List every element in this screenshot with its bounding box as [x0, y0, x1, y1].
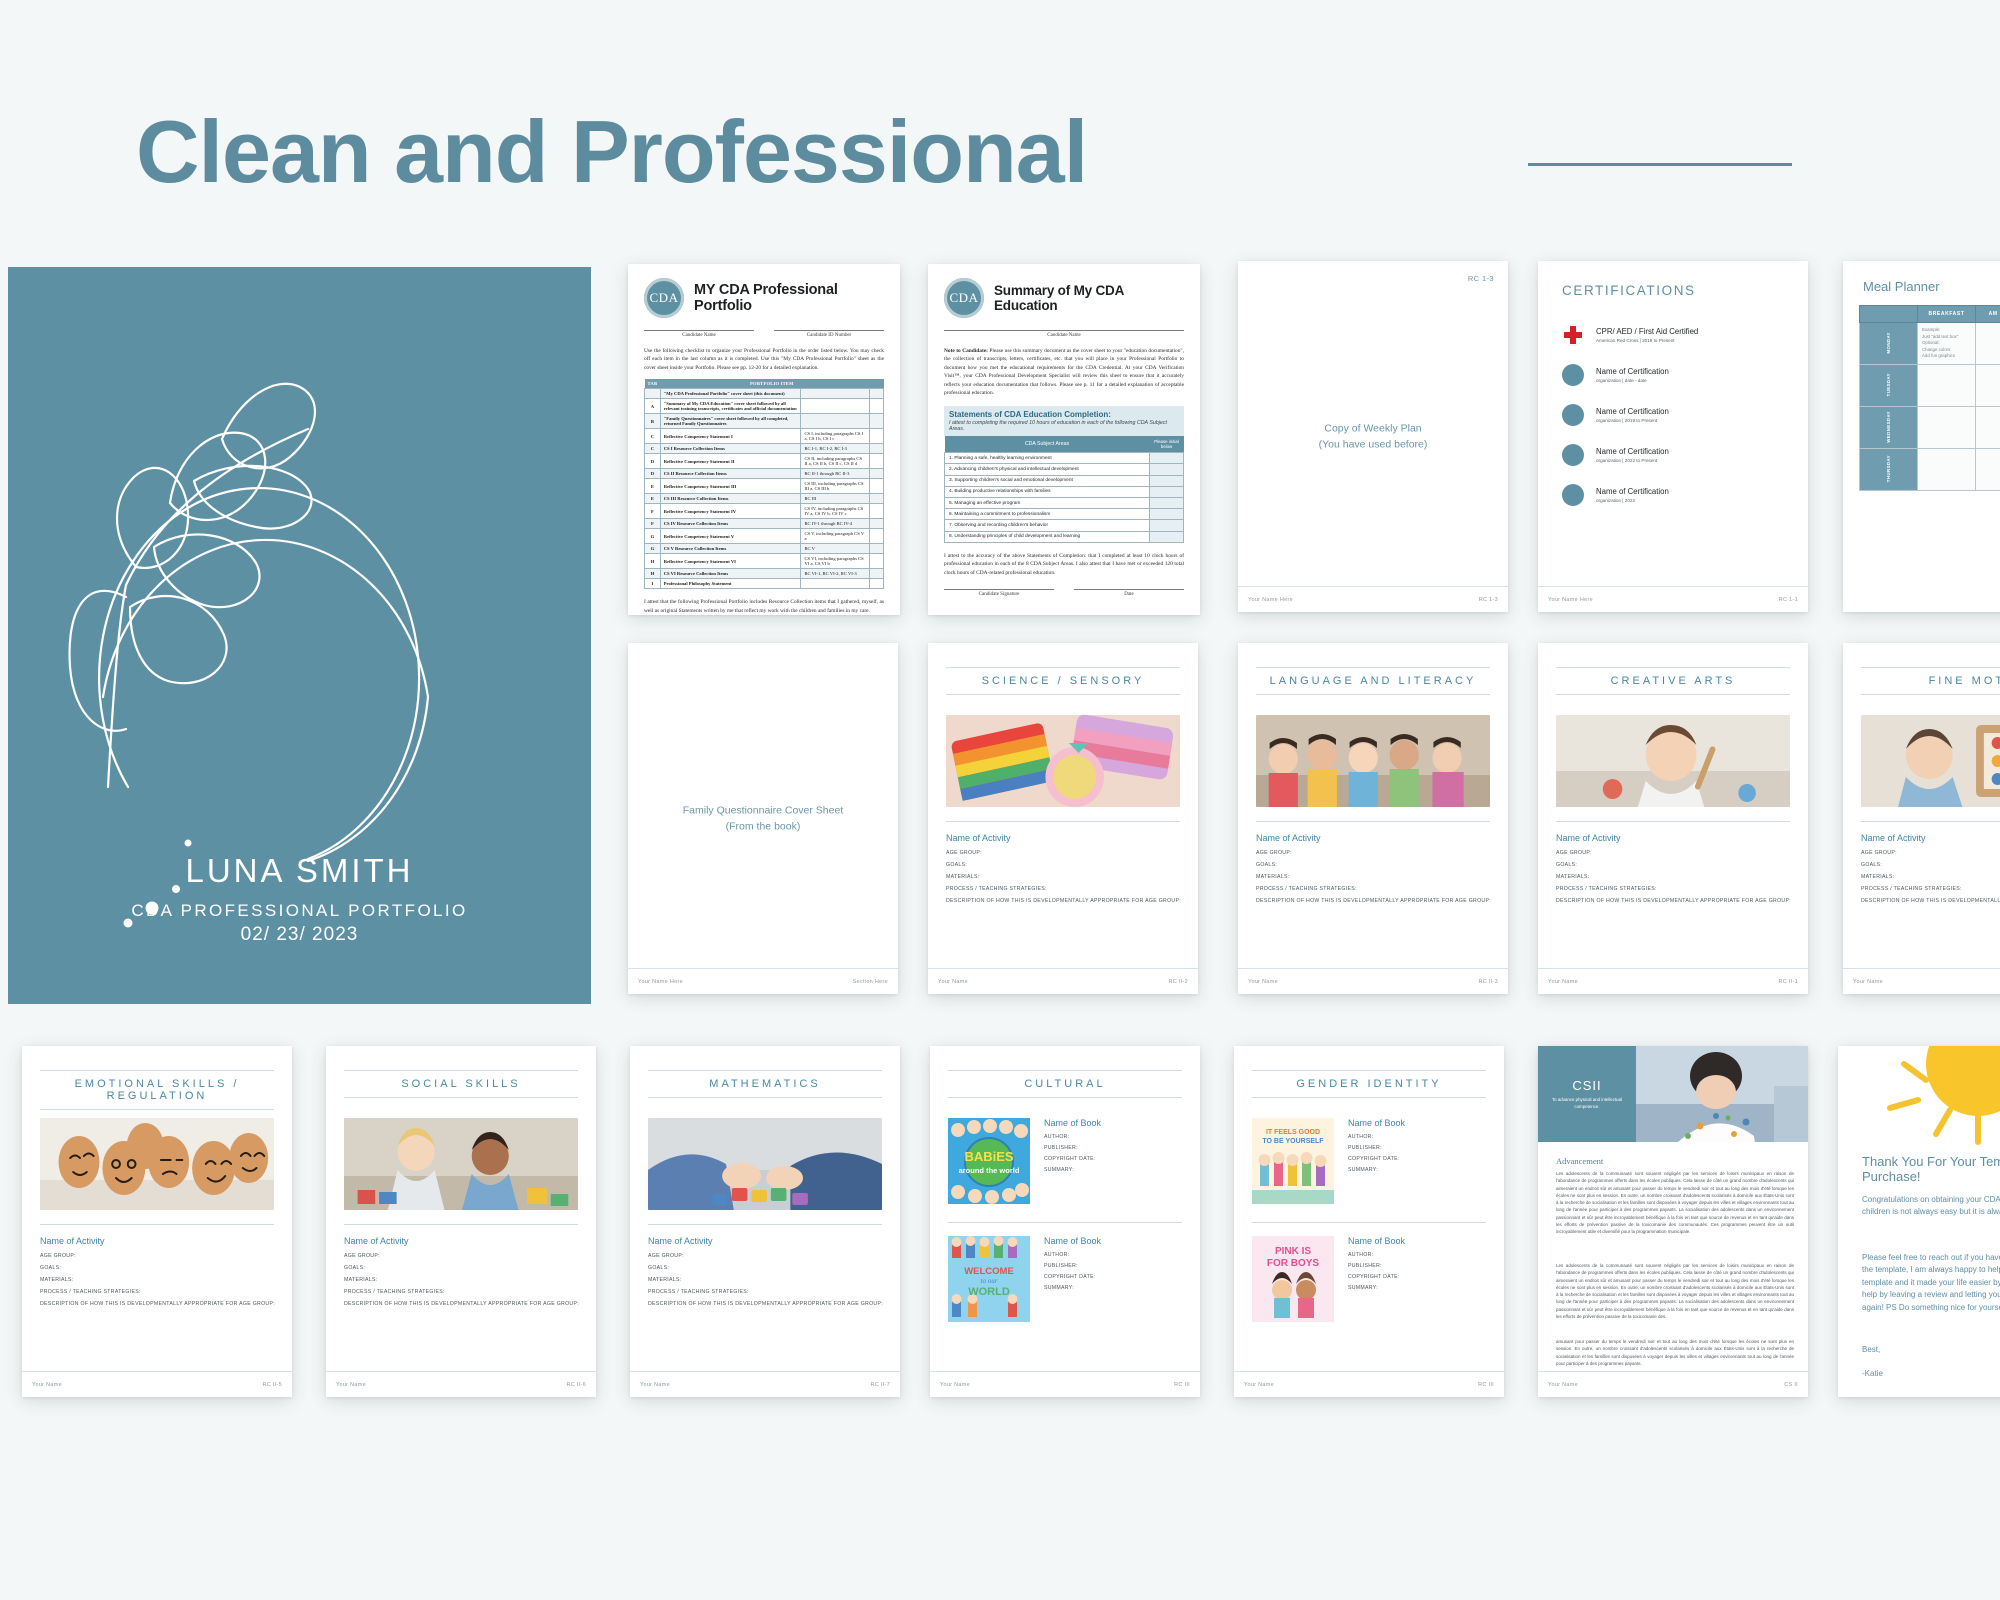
page-footer: Your Name Here RC 1-1	[1538, 586, 1808, 612]
cell-subject: 5. Managing an effective program	[945, 498, 1150, 509]
doc-title: Summary of My CDA Education	[994, 283, 1184, 313]
svg-text:to our: to our	[981, 1277, 998, 1285]
activity-heading: LANGUAGE AND LITERACY	[1256, 667, 1490, 695]
cell-check[interactable]	[870, 529, 884, 544]
activity-heading: FINE MOTOR	[1861, 667, 2000, 695]
col-please-initial: Please initial below	[1150, 436, 1184, 453]
page-summary-of-my-cda-education[interactable]: CDA Summary of My CDA Education Candidat…	[928, 264, 1200, 615]
footer-right: RC III	[1174, 1382, 1190, 1388]
cell-meal[interactable]	[1918, 407, 1976, 449]
activity-field-label: DESCRIPTION OF HOW THIS IS DEVELOPMENTAL…	[1256, 898, 1494, 904]
cell-tab: D	[645, 469, 661, 479]
book-field-label: COPYRIGHT DATE:	[1044, 1156, 1101, 1162]
activity-field-label: PROCESS / TEACHING STRATEGIES:	[1861, 886, 2000, 892]
footer-left: Your Name	[640, 1382, 670, 1388]
col-item: PORTFOLIO ITEM	[660, 379, 883, 389]
doc-header: CDA Summary of My CDA Education	[944, 278, 1184, 318]
candidate-name-field[interactable]: Candidate Name	[944, 330, 1184, 338]
footer-left: Your Name	[336, 1382, 366, 1388]
cell-check[interactable]	[870, 479, 884, 494]
cell-tab: H	[645, 569, 661, 579]
footer-right: RC II-2	[1168, 979, 1188, 985]
certification-item: Name of Certificationorganization | 2022…	[1562, 435, 1790, 475]
portfolio-checklist-table: TAB PORTFOLIO ITEM "My CDA Professional …	[644, 379, 884, 589]
cell-item: Professional Philosophy Statement	[660, 579, 801, 589]
candidate-fields: Candidate Name	[944, 330, 1184, 338]
pop-it-toys-photo	[946, 715, 1180, 807]
svg-text:around the world: around the world	[959, 1166, 1020, 1175]
cell-meal[interactable]	[1976, 365, 2000, 407]
it-feels-good-to-be-yourself-cover: IT FEELS GOOD TO BE YOURSELF	[1252, 1118, 1334, 1204]
cell-tab: G	[645, 544, 661, 554]
table-row: FReflective Competency Statement IVCS IV…	[645, 504, 884, 519]
cell-initial[interactable]	[1150, 520, 1184, 531]
cell-item: "Family Questionnaires" cover sheet foll…	[660, 414, 801, 429]
activity-field-label: MATERIALS:	[1556, 874, 1794, 880]
doc-body: CDA Summary of My CDA Education Candidat…	[928, 264, 1200, 597]
cell-meal[interactable]	[1976, 449, 2000, 491]
field-line	[944, 330, 1184, 331]
cell-check[interactable]	[870, 399, 884, 414]
activity-field-label: MATERIALS:	[1861, 874, 2000, 880]
sun-icon	[1838, 1046, 2000, 1146]
attestation-text: I attest that the following Professional…	[644, 598, 884, 615]
red-cross-icon	[1562, 324, 1584, 346]
col-breakfast: BREAKFAST	[1918, 306, 1976, 323]
activity-field-label: AGE GROUP:	[648, 1253, 886, 1259]
cell-initial[interactable]	[1150, 531, 1184, 542]
table-row: 3. Supporting children's social and emot…	[945, 475, 1184, 486]
footer-left: Your Name Here	[638, 979, 683, 985]
divider	[946, 821, 1180, 822]
certification-text: Name of Certificationorganization | date…	[1596, 367, 1669, 383]
footer-right: RC II-5	[262, 1382, 282, 1388]
activity-field-label: PROCESS / TEACHING STRATEGIES:	[648, 1289, 886, 1295]
cell-initial[interactable]	[1150, 509, 1184, 520]
books-heading: GENDER IDENTITY	[1252, 1070, 1486, 1098]
field-label: Date	[1074, 592, 1184, 597]
candidate-name-field[interactable]: Candidate Name	[644, 330, 754, 338]
activity-name: Name of Activity	[344, 1236, 582, 1246]
activity-body: Name of ActivityAGE GROUP:GOALS:MATERIAL…	[344, 1236, 582, 1313]
cell-tab	[645, 389, 661, 399]
doc-intro-text: Use the following checklist to organize …	[644, 347, 884, 372]
book-entry: IT FEELS GOOD TO BE YOURSELF Name of Boo…	[1252, 1118, 1486, 1204]
col-day	[1860, 306, 1918, 323]
page-activity-mathematics[interactable]: MATHEMATICS Name of ActivityAGE GROUP:GO…	[630, 1046, 900, 1397]
activity-heading: SCIENCE / SENSORY	[946, 667, 1180, 695]
footer-left: Your Name Here	[1548, 597, 1593, 603]
cell-ref: RC IV-1 through RC IV-4	[801, 519, 870, 529]
col-tab: TAB	[645, 379, 661, 389]
thank-you-author: -Katie	[1862, 1368, 2000, 1380]
children-singing-photo	[1256, 715, 1490, 807]
candidate-signature-field[interactable]: Candidate Signature	[944, 589, 1054, 597]
book-field-label: COPYRIGHT DATE:	[1348, 1156, 1405, 1162]
egg-faces-photo	[40, 1118, 274, 1210]
cell-ref: RC V	[801, 544, 870, 554]
activity-name: Name of Activity	[946, 833, 1184, 843]
activity-field-label: PROCESS / TEACHING STRATEGIES:	[946, 886, 1184, 892]
panel-subtitle: I attest to completing the required 10 h…	[944, 420, 1184, 436]
family-questionnaire-note: Family Questionnaire Cover Sheet (From t…	[628, 802, 898, 835]
page-activity-creative-arts[interactable]: CREATIVE ARTS Name of ActivityAGE GROUP:…	[1538, 643, 1808, 994]
page-books-cultural[interactable]: CULTURAL BABiES around the worldName of …	[930, 1046, 1200, 1397]
csii-section-heading: Advancement	[1556, 1156, 1603, 1166]
certification-item: Name of Certificationorganization | date…	[1562, 355, 1790, 395]
table-row: 8. Understanding principles of child dev…	[945, 531, 1184, 542]
activity-heading: CREATIVE ARTS	[1556, 667, 1790, 695]
page-footer: Your NameRC II-3	[1238, 968, 1508, 994]
table-row: MONDAYExample:Just "add text box"Optiona…	[1860, 323, 2000, 365]
book-entry: WELCOME to our WORLDName of BookAUTHOR:P…	[948, 1236, 1182, 1322]
cell-ref: RC VI-1, RC VI-2, RC VI-3	[801, 569, 870, 579]
book-field-label: PUBLISHER:	[1348, 1145, 1405, 1151]
divider	[1252, 1222, 1486, 1223]
cell-ref	[801, 414, 870, 429]
cell-day: THURSDAY	[1860, 449, 1918, 491]
table-row: GReflective Competency Statement VCS V, …	[645, 529, 884, 544]
cell-meal[interactable]	[1976, 407, 2000, 449]
certification-item: Name of Certificationorganization | 2019…	[1562, 395, 1790, 435]
cell-item: CS III Resource Collection Items	[660, 494, 801, 504]
book-info: Name of BookAUTHOR:PUBLISHER:COPYRIGHT D…	[1348, 1236, 1405, 1322]
cell-initial[interactable]	[1150, 475, 1184, 486]
cell-ref: CS V, including paragraph CS V a	[801, 529, 870, 544]
cell-subject: 3. Supporting children's social and emot…	[945, 475, 1150, 486]
page-footer: Your NameRC II-5	[22, 1371, 292, 1397]
book-entry: PINK IS FOR BOYS Name of BookAUTHOR:PUBL…	[1252, 1236, 1486, 1322]
note-to-candidate: Note to Candidate: Please use this summa…	[944, 347, 1184, 397]
footer-left: Your Name	[938, 979, 968, 985]
footer-left: Your Name	[32, 1382, 62, 1388]
page-activity-language-and-literacy[interactable]: LANGUAGE AND LITERACY Name of ActivityAG…	[1238, 643, 1508, 994]
poster-canvas: Clean and Professional	[0, 0, 2000, 1600]
certification-org: American Red Cross | 2019 to Present	[1596, 338, 1698, 343]
cda-seal-icon: CDA	[644, 278, 684, 318]
page-activity-science-sensory[interactable]: SCIENCE / SENSORY Name of ActivityAGE GR…	[928, 643, 1198, 994]
table-row: DCS II Resource Collection ItemsRC II-1 …	[645, 469, 884, 479]
page-books-gender-identity[interactable]: GENDER IDENTITY IT FEELS GOOD TO BE YOUR…	[1234, 1046, 1504, 1397]
certification-item: Name of Certificationorganization | 2022	[1562, 475, 1790, 515]
cell-meal[interactable]	[1918, 365, 1976, 407]
cell-check[interactable]	[870, 519, 884, 529]
svg-text:WORLD: WORLD	[968, 1286, 1010, 1298]
activity-field-label: GOALS:	[40, 1265, 278, 1271]
cda-subject-areas-table: CDA Subject Areas Please initial below 1…	[944, 436, 1184, 543]
cell-check[interactable]	[870, 494, 884, 504]
activity-field-label: MATERIALS:	[40, 1277, 278, 1283]
doc-body: CDA MY CDA Professional Portfolio Candid…	[628, 264, 900, 615]
csii-paragraph-1: Les adolescents de la communauté sont so…	[1556, 1170, 1794, 1236]
welcome-to-our-world-cover: WELCOME to our WORLD	[948, 1236, 1030, 1322]
book-name: Name of Book	[1348, 1118, 1405, 1128]
cell-check[interactable]	[870, 444, 884, 454]
activity-field-label: AGE GROUP:	[1556, 850, 1794, 856]
footer-left: Your Name	[1548, 979, 1578, 985]
book-field-label: SUMMARY:	[1348, 1285, 1405, 1291]
divider	[1861, 821, 2000, 822]
cell-ref: CS IV, including paragraphs CS IV a, CS …	[801, 504, 870, 519]
activity-name: Name of Activity	[1556, 833, 1794, 843]
cell-ref: RC I-1, RC I-2, RC I-3	[801, 444, 870, 454]
footer-left: Your Name	[1548, 1382, 1578, 1388]
activity-field-label: DESCRIPTION OF HOW THIS IS DEVELOPMENTAL…	[1556, 898, 1794, 904]
certification-name: Name of Certification	[1596, 367, 1669, 376]
table-body: "My CDA Professional Portfolio" cover sh…	[645, 389, 884, 589]
book-field-label: SUMMARY:	[1044, 1167, 1101, 1173]
table-row: DReflective Competency Statement IICS II…	[645, 454, 884, 469]
page-footer: Your NameRC II-6	[326, 1371, 596, 1397]
table-row: HReflective Competency Statement VICS VI…	[645, 554, 884, 569]
page-activity-emotional-skills-regulation[interactable]: EMOTIONAL SKILLS / REGULATION Name of Ac…	[22, 1046, 292, 1397]
circle-icon	[1562, 484, 1584, 506]
page-footer: Your NameRC II-2	[928, 968, 1198, 994]
cell-meal[interactable]	[1918, 449, 1976, 491]
activity-name: Name of Activity	[1861, 833, 2000, 843]
cell-tab: F	[645, 504, 661, 519]
page-family-questionnaire-cover-sheet[interactable]: Family Questionnaire Cover Sheet (From t…	[628, 643, 898, 994]
svg-text:BABiES: BABiES	[964, 1149, 1013, 1164]
note-line-2: (From the book)	[628, 819, 898, 835]
certification-text: Name of Certificationorganization | 2022	[1596, 487, 1669, 503]
cell-tab: A	[645, 399, 661, 414]
divider	[344, 1224, 578, 1225]
book-field-label: AUTHOR:	[1348, 1134, 1405, 1140]
book-info: Name of BookAUTHOR:PUBLISHER:COPYRIGHT D…	[1044, 1118, 1101, 1204]
table-body: 1. Planning a safe, healthy learning env…	[945, 453, 1184, 543]
page-title: Clean and Professional	[136, 108, 1087, 196]
book-entry: BABiES around the worldName of BookAUTHO…	[948, 1118, 1182, 1204]
table-row: CCS I Resource Collection ItemsRC I-1, R…	[645, 444, 884, 454]
page-csii-advancement[interactable]: CSII To advance physical and intellectua…	[1538, 1046, 1808, 1397]
csii-paragraph-2: Les adolescents de la communauté sont so…	[1556, 1262, 1794, 1320]
weekly-plan-note: Copy of Weekly Plan (You have used befor…	[1238, 420, 1508, 453]
cda-seal-icon: CDA	[944, 278, 984, 318]
certification-name: Name of Certification	[1596, 447, 1669, 456]
footer-left: Your Name	[1244, 1382, 1274, 1388]
certification-text: CPR/ AED / First Aid CertifiedAmerican R…	[1596, 327, 1698, 343]
circle-icon	[1562, 404, 1584, 426]
cell-initial[interactable]	[1150, 498, 1184, 509]
activity-heading: MATHEMATICS	[648, 1070, 882, 1098]
footer-right: RC II-6	[566, 1382, 586, 1388]
footer-left: Your Name	[1248, 979, 1278, 985]
cell-check[interactable]	[870, 579, 884, 589]
activity-field-label: AGE GROUP:	[1256, 850, 1494, 856]
table-row: FCS IV Resource Collection ItemsRC IV-1 …	[645, 519, 884, 529]
book-field-label: PUBLISHER:	[1348, 1263, 1405, 1269]
doc-header: CDA MY CDA Professional Portfolio	[644, 278, 884, 318]
cell-subject: 2. Advancing children's physical and int…	[945, 464, 1150, 475]
cell-item: "My CDA Professional Portfolio" cover sh…	[660, 389, 801, 399]
table-row: A"Summary of My CDA Education" cover she…	[645, 399, 884, 414]
attestation-text: I attest to the accuracy of the above St…	[944, 552, 1184, 577]
cell-ref: RC II-1 through RC II-3	[801, 469, 870, 479]
thank-you-title: Thank You For Your Template Purchase!	[1862, 1154, 2000, 1184]
book-info: Name of BookAUTHOR:PUBLISHER:COPYRIGHT D…	[1044, 1236, 1101, 1322]
table-row: WEDNESDAY	[1860, 407, 2000, 449]
cell-ref	[801, 389, 870, 399]
cell-tab: E	[645, 479, 661, 494]
page-footer: Your NameRC III	[1234, 1371, 1504, 1397]
table-row: 2. Advancing children's physical and int…	[945, 464, 1184, 475]
footer-right: RC 1-3	[1479, 597, 1498, 603]
cell-tab: E	[645, 494, 661, 504]
activity-field-label: DESCRIPTION OF HOW THIS IS DEVELOPMENTAL…	[648, 1301, 886, 1307]
activity-field-label: DESCRIPTION OF HOW THIS IS DEVELOPMENTAL…	[40, 1301, 278, 1307]
table-row: THURSDAY	[1860, 449, 2000, 491]
activity-body: Name of ActivityAGE GROUP:GOALS:MATERIAL…	[648, 1236, 886, 1313]
book-field-label: COPYRIGHT DATE:	[1348, 1274, 1405, 1280]
statements-panel: Statements of CDA Education Completion: …	[944, 406, 1184, 543]
activity-field-label: MATERIALS:	[946, 874, 1184, 880]
page-copy-of-weekly-plan[interactable]: RC 1-3 Copy of Weekly Plan (You have use…	[1238, 261, 1508, 612]
note-line-1: Family Questionnaire Cover Sheet	[628, 802, 898, 818]
csii-paragraph-3: amusant pour passer du temps le vendredi…	[1556, 1338, 1794, 1367]
cell-check[interactable]	[870, 554, 884, 569]
activity-field-label: PROCESS / TEACHING STRATEGIES:	[1556, 886, 1794, 892]
cell-subject: 6. Maintaining a commitment to professio…	[945, 509, 1150, 520]
field-line	[774, 330, 884, 331]
footer-right: RC II-7	[870, 1382, 890, 1388]
counting-blocks-photo	[648, 1118, 882, 1210]
svg-text:WELCOME: WELCOME	[964, 1266, 1014, 1277]
certification-name: Name of Certification	[1596, 407, 1669, 416]
date-field[interactable]: Date	[1074, 589, 1184, 597]
footer-left: Your Name	[940, 1382, 970, 1388]
table-row: EReflective Competency Statement IIICS I…	[645, 479, 884, 494]
svg-text:TO BE YOURSELF: TO BE YOURSELF	[1262, 1138, 1324, 1145]
activity-name: Name of Activity	[648, 1236, 886, 1246]
cell-meal[interactable]	[1976, 323, 2000, 365]
cell-meal[interactable]: Example:Just "add text box"Optional:Chan…	[1918, 323, 1976, 365]
note-line-1: Copy of Weekly Plan	[1238, 420, 1508, 436]
rc-tag: RC 1-3	[1468, 274, 1494, 283]
cell-tab: I	[645, 579, 661, 589]
cell-check[interactable]	[870, 429, 884, 444]
cell-day: WEDNESDAY	[1860, 407, 1918, 449]
headline-divider	[1528, 163, 1792, 166]
cell-item: CS VI Resource Collection Items	[660, 569, 801, 579]
activity-field-label: GOALS:	[946, 862, 1184, 868]
certification-org: organization | 2022	[1596, 498, 1669, 503]
signature-row: Candidate Signature Date	[944, 589, 1184, 597]
cell-subject: 7. Observing and recording children's be…	[945, 520, 1150, 531]
meal-planner-title: Meal Planner	[1863, 279, 1940, 294]
cell-check[interactable]	[870, 389, 884, 399]
field-label: Candidate Signature	[944, 592, 1054, 597]
footer-left: Your Name Here	[1248, 597, 1293, 603]
book-field-label: PUBLISHER:	[1044, 1145, 1101, 1151]
cell-subject: 4. Building productive relationships wit…	[945, 486, 1150, 497]
portfolio-cover-card[interactable]: LUNA SMITH CDA PROFESSIONAL PORTFOLIO 02…	[8, 267, 591, 1004]
cell-item: Reflective Competency Statement III	[660, 479, 801, 494]
footer-right: Section Here	[853, 979, 888, 985]
activity-field-label: AGE GROUP:	[1861, 850, 2000, 856]
cell-initial[interactable]	[1150, 486, 1184, 497]
field-line	[1074, 589, 1184, 590]
page-meal-planner[interactable]: Meal Planner BREAKFASTAM SNACKLUNCHMONDA…	[1843, 261, 2000, 612]
cell-initial[interactable]	[1150, 464, 1184, 475]
cell-item: CS II Resource Collection Items	[660, 469, 801, 479]
cell-initial[interactable]	[1150, 453, 1184, 464]
footer-right: RC III	[1478, 1382, 1494, 1388]
activity-field-label: GOALS:	[1256, 862, 1494, 868]
cell-check[interactable]	[870, 454, 884, 469]
activity-body: Name of ActivityAGE GROUP:GOALS:MATERIAL…	[1556, 833, 1794, 910]
page-thank-you[interactable]: Thank You For Your Template Purchase! Co…	[1838, 1046, 2000, 1397]
panel-title: Statements of CDA Education Completion:	[944, 406, 1184, 420]
field-line	[944, 589, 1054, 590]
cell-check[interactable]	[870, 469, 884, 479]
col-subject-areas: CDA Subject Areas	[945, 436, 1150, 453]
table-row: 4. Building productive relationships wit…	[945, 486, 1184, 497]
cell-tab: C	[645, 444, 661, 454]
book-field-label: AUTHOR:	[1348, 1252, 1405, 1258]
svg-text:FOR BOYS: FOR BOYS	[1267, 1258, 1320, 1269]
activity-field-label: GOALS:	[648, 1265, 886, 1271]
cover-author-name: LUNA SMITH	[8, 852, 591, 890]
table-row: HCS VI Resource Collection ItemsRC VI-1,…	[645, 569, 884, 579]
cell-check[interactable]	[870, 504, 884, 519]
cell-check[interactable]	[870, 569, 884, 579]
footer-right: RC II-1	[1778, 979, 1798, 985]
activity-field-label: AGE GROUP:	[946, 850, 1184, 856]
cell-subject: 1. Planning a safe, healthy learning env…	[945, 453, 1150, 464]
wreath-decoration	[8, 267, 591, 1004]
cell-tab: B	[645, 414, 661, 429]
child-painting-photo	[1556, 715, 1790, 807]
certifications-title: CERTIFICATIONS	[1562, 283, 1696, 298]
svg-text:PINK IS: PINK IS	[1275, 1246, 1311, 1257]
field-line	[644, 330, 754, 331]
cell-item: Reflective Competency Statement I	[660, 429, 801, 444]
cell-tab: G	[645, 529, 661, 544]
footer-right: RC 1-1	[1779, 597, 1798, 603]
table-row: 6. Maintaining a commitment to professio…	[945, 509, 1184, 520]
page-activity-social-skills[interactable]: SOCIAL SKILLS Name of ActivityAGE GROUP:…	[326, 1046, 596, 1397]
cell-check[interactable]	[870, 414, 884, 429]
page-my-cda-professional-portfolio[interactable]: CDA MY CDA Professional Portfolio Candid…	[628, 264, 900, 615]
pink-is-for-boys-cover: PINK IS FOR BOYS	[1252, 1236, 1334, 1322]
divider	[40, 1224, 274, 1225]
col-am-snack: AM SNACK	[1976, 306, 2000, 323]
book-field-label: SUMMARY:	[1348, 1167, 1405, 1173]
meal-example-text: Example:Just "add text box"Optional:Chan…	[1918, 324, 1975, 363]
activity-field-label: DESCRIPTION OF HOW THIS IS DEVELOPMENTAL…	[946, 898, 1184, 904]
cell-day: TUESDAY	[1860, 365, 1918, 407]
table-body: MONDAYExample:Just "add text box"Optiona…	[1860, 323, 2000, 491]
table-header-row: CDA Subject Areas Please initial below	[945, 436, 1184, 453]
cell-check[interactable]	[870, 544, 884, 554]
note-line-2: (You have used before)	[1238, 437, 1508, 453]
note-label: Note to Candidate:	[944, 348, 988, 354]
table-row: IProfessional Philosophy Statement	[645, 579, 884, 589]
book-name: Name of Book	[1044, 1118, 1101, 1128]
field-label: Candidate ID Number	[774, 333, 884, 338]
table-row: 1. Planning a safe, healthy learning env…	[945, 453, 1184, 464]
page-activity-fine-motor[interactable]: FINE MOTOR Name of ActivityAGE GROUP:GOA…	[1843, 643, 2000, 994]
cell-item: CS I Resource Collection Items	[660, 444, 801, 454]
page-certifications[interactable]: CERTIFICATIONS CPR/ AED / First Aid Cert…	[1538, 261, 1808, 612]
thank-you-paragraph-1: Congratulations on obtaining your CDA! W…	[1862, 1194, 2000, 1219]
candidate-id-field[interactable]: Candidate ID Number	[774, 330, 884, 338]
meal-planner-table: BREAKFASTAM SNACKLUNCHMONDAYExample:Just…	[1859, 305, 2000, 491]
activity-body: Name of ActivityAGE GROUP:GOALS:MATERIAL…	[40, 1236, 278, 1313]
divider	[1256, 821, 1490, 822]
field-label: Candidate Name	[644, 333, 754, 338]
